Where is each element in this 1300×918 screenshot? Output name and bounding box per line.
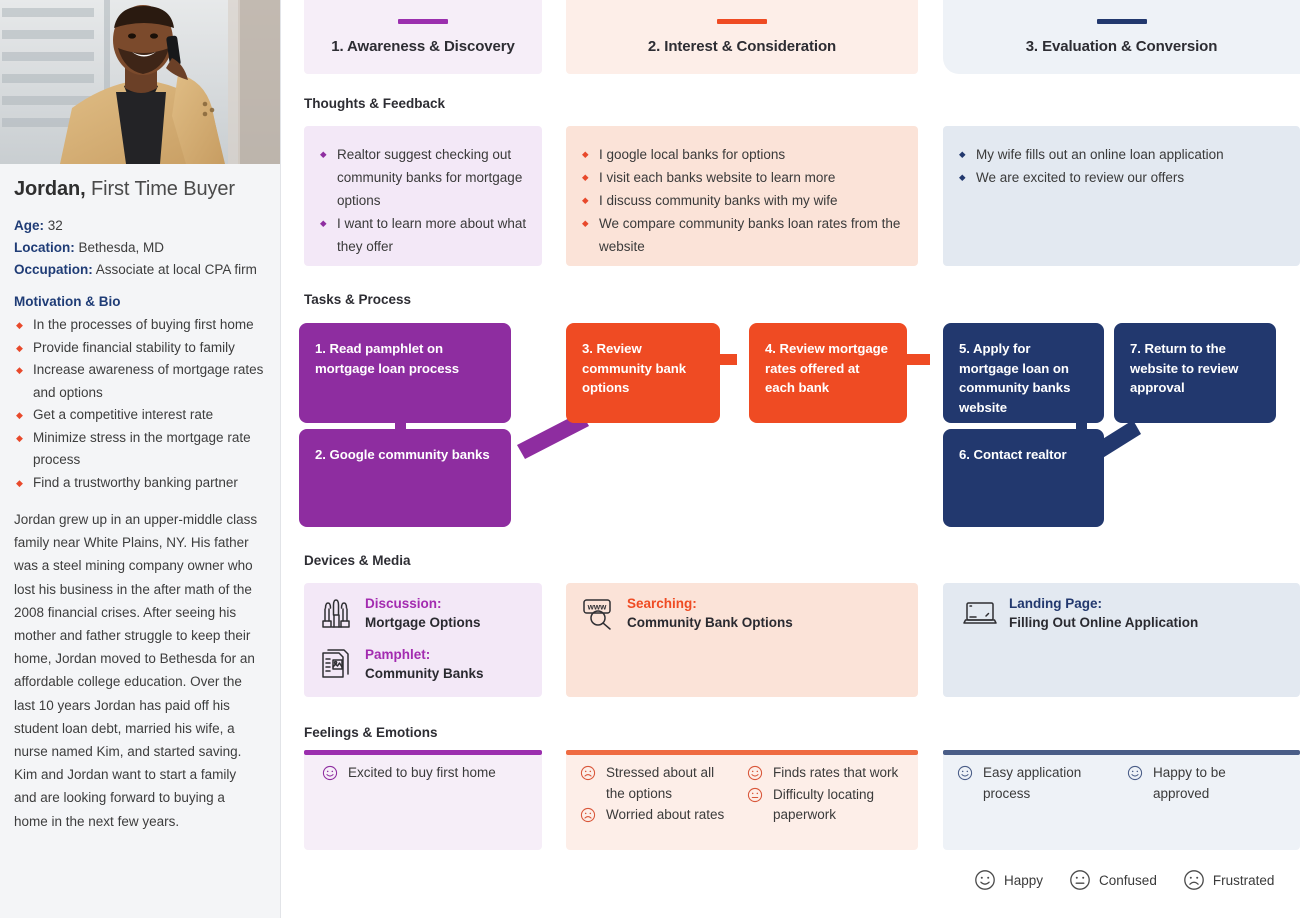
task-box-1[interactable]: 1. Read pamphlet on mortgage loan proces…: [299, 323, 511, 423]
task-label: 3. Review community bank options: [582, 341, 686, 395]
laptop-icon: [962, 595, 998, 631]
svg-text:www: www: [587, 603, 607, 612]
list-item: Minimize stress in the mortgage rate pro…: [14, 427, 264, 472]
task-box-5[interactable]: 5. Apply for mortgage loan on community …: [943, 323, 1104, 423]
feeling-item: Happy to be approved: [1127, 763, 1282, 804]
happy-face-icon: [322, 765, 338, 781]
legend-label: Frustrated: [1213, 873, 1275, 888]
feeling-item: Excited to buy first home: [322, 763, 522, 784]
happy-face-icon: [747, 765, 763, 781]
persona-details: Jordan, First Time Buyer Age: 32 Locatio…: [0, 164, 280, 833]
list-item: Increase awareness of mortgage rates and…: [14, 359, 264, 404]
persona-name-first: Jordan,: [14, 178, 86, 200]
thoughts-list-stage2: I google local banks for options I visit…: [566, 126, 918, 268]
device-item-pamphlet: Pamphlet: Community Banks: [318, 646, 484, 683]
persona-name-role: First Time Buyer: [86, 178, 235, 200]
feeling-text: Finds rates that work: [773, 765, 898, 780]
happy-face-icon: [1127, 765, 1143, 781]
feeling-text: Happy to be approved: [1153, 765, 1226, 801]
persona-meta-location: Location: Bethesda, MD: [14, 237, 264, 258]
feeling-item: Worried about rates: [580, 805, 735, 826]
stage-accent-dash: [1097, 19, 1147, 24]
device-value: Community Bank Options: [627, 613, 793, 632]
device-key: Discussion:: [365, 595, 481, 613]
list-item: I want to learn more about what they off…: [318, 212, 528, 258]
device-item-searching: www Searching: Community Bank Options: [580, 595, 793, 632]
task-box-7[interactable]: 7. Return to the website to review appro…: [1114, 323, 1276, 423]
device-text: Landing Page: Filling Out Online Applica…: [1009, 595, 1198, 632]
feelings-col-stage3-b: Happy to be approved: [1127, 763, 1282, 805]
list-item: Get a competitive interest rate: [14, 404, 264, 427]
task-box-6[interactable]: 6. Contact realtor: [943, 429, 1104, 527]
mood-legend: Happy Confused Frustrated: [974, 869, 1274, 891]
device-value: Filling Out Online Application: [1009, 613, 1198, 632]
persona-meta-age-key: Age:: [14, 218, 44, 233]
thoughts-card-stage1: Realtor suggest checking out community b…: [304, 126, 542, 266]
stage-label: 1. Awareness & Discovery: [331, 38, 515, 55]
device-item-landing-page: Landing Page: Filling Out Online Applica…: [962, 595, 1198, 632]
device-text: Discussion: Mortgage Options: [365, 595, 481, 632]
device-key: Landing Page:: [1009, 595, 1198, 613]
happy-face-icon: [957, 765, 973, 781]
feeling-text: Excited to buy first home: [348, 765, 496, 780]
list-item: Find a trustworthy banking partner: [14, 472, 264, 495]
happy-face-icon: [974, 869, 996, 891]
device-key: Searching:: [627, 595, 793, 613]
thoughts-list-stage3: My wife fills out an online loan applica…: [943, 126, 1300, 199]
web-search-icon: www: [580, 595, 616, 631]
feeling-text: Worried about rates: [606, 807, 724, 822]
feeling-item: Stressed about all the options: [580, 763, 735, 804]
task-label: 5. Apply for mortgage loan on community …: [959, 341, 1070, 415]
list-item: I visit each banks website to learn more: [580, 166, 904, 189]
row-label-tasks: Tasks & Process: [304, 292, 411, 307]
legend-item-frustrated: Frustrated: [1183, 869, 1275, 891]
journey-main: 1. Awareness & Discovery 2. Interest & C…: [281, 0, 1300, 918]
row-label-thoughts: Thoughts & Feedback: [304, 96, 445, 111]
stage-accent-dash: [398, 19, 448, 24]
legend-item-confused: Confused: [1069, 869, 1157, 891]
stage-header-1: 1. Awareness & Discovery: [304, 0, 542, 74]
task-box-2[interactable]: 2. Google community banks: [299, 429, 511, 527]
feelings-col-stage3-a: Easy application process: [957, 763, 1112, 805]
discussion-people-icon: [318, 595, 354, 631]
device-key: Pamphlet:: [365, 646, 484, 664]
persona-meta-age-value: 32: [44, 218, 63, 233]
task-label: 1. Read pamphlet on mortgage loan proces…: [315, 341, 459, 376]
frustrated-face-icon: [580, 807, 596, 823]
legend-item-happy: Happy: [974, 869, 1043, 891]
stage-label: 3. Evaluation & Conversion: [1026, 38, 1218, 55]
list-item: Realtor suggest checking out community b…: [318, 143, 528, 212]
legend-label: Happy: [1004, 873, 1043, 888]
feelings-col-stage1-a: Excited to buy first home: [322, 763, 522, 785]
persona-meta-occupation-key: Occupation:: [14, 262, 93, 277]
persona-meta-location-key: Location:: [14, 240, 75, 255]
list-item: I google local banks for options: [580, 143, 904, 166]
device-text: Pamphlet: Community Banks: [365, 646, 484, 683]
list-item: My wife fills out an online loan applica…: [957, 143, 1286, 166]
feeling-text: Difficulty locating paperwork: [773, 787, 874, 823]
persona-sidebar: Jordan, First Time Buyer Age: 32 Locatio…: [0, 0, 281, 918]
persona-photo-image: [0, 0, 281, 164]
task-box-3[interactable]: 3. Review community bank options: [566, 323, 720, 423]
stage-label: 2. Interest & Consideration: [648, 38, 836, 55]
task-label: 4. Review mortgage rates offered at each…: [765, 341, 888, 395]
task-label: 6. Contact realtor: [959, 447, 1067, 462]
feeling-item: Finds rates that work: [747, 763, 912, 784]
task-box-4[interactable]: 4. Review mortgage rates offered at each…: [749, 323, 907, 423]
legend-label: Confused: [1099, 873, 1157, 888]
pamphlet-documents-icon: [318, 646, 354, 682]
journey-map-page: Jordan, First Time Buyer Age: 32 Locatio…: [0, 0, 1300, 918]
persona-bio-paragraph: Jordan grew up in an upper-middle class …: [14, 508, 264, 833]
confused-face-icon: [747, 787, 763, 803]
frustrated-face-icon: [580, 765, 596, 781]
device-value: Community Banks: [365, 664, 484, 683]
stage-header-3: 3. Evaluation & Conversion: [943, 0, 1300, 74]
thoughts-list-stage1: Realtor suggest checking out community b…: [304, 126, 542, 268]
frustrated-face-icon: [1183, 869, 1205, 891]
motivation-list: In the processes of buying first home Pr…: [14, 314, 264, 494]
persona-meta-occupation-value: Associate at local CPA firm: [93, 262, 257, 277]
stage-header-2: 2. Interest & Consideration: [566, 0, 918, 74]
feeling-item: Difficulty locating paperwork: [747, 785, 912, 826]
row-label-devices: Devices & Media: [304, 553, 411, 568]
list-item: We compare community banks loan rates fr…: [580, 212, 904, 258]
list-item: Provide financial stability to family: [14, 337, 264, 360]
motivation-bio-title: Motivation & Bio: [14, 294, 264, 309]
persona-name: Jordan, First Time Buyer: [14, 178, 264, 201]
device-text: Searching: Community Bank Options: [627, 595, 793, 632]
task-label: 2. Google community banks: [315, 447, 490, 462]
device-item-discussion: Discussion: Mortgage Options: [318, 595, 481, 632]
feeling-text: Easy application process: [983, 765, 1081, 801]
confused-face-icon: [1069, 869, 1091, 891]
persona-meta-age: Age: 32: [14, 215, 264, 236]
persona-meta-location-value: Bethesda, MD: [75, 240, 164, 255]
feeling-text: Stressed about all the options: [606, 765, 714, 801]
thoughts-card-stage2: I google local banks for options I visit…: [566, 126, 918, 266]
persona-meta-occupation: Occupation: Associate at local CPA firm: [14, 259, 264, 280]
feelings-col-stage2-b: Finds rates that work Difficulty locatin…: [747, 763, 912, 827]
persona-photo: [0, 0, 281, 164]
feeling-item: Easy application process: [957, 763, 1112, 804]
stage-accent-dash: [717, 19, 767, 24]
feelings-col-stage2-a: Stressed about all the options Worried a…: [580, 763, 735, 827]
list-item: We are excited to review our offers: [957, 166, 1286, 189]
list-item: In the processes of buying first home: [14, 314, 264, 337]
row-label-feelings: Feelings & Emotions: [304, 725, 438, 740]
task-label: 7. Return to the website to review appro…: [1130, 341, 1238, 395]
device-value: Mortgage Options: [365, 613, 481, 632]
list-item: I discuss community banks with my wife: [580, 189, 904, 212]
thoughts-card-stage3: My wife fills out an online loan applica…: [943, 126, 1300, 266]
